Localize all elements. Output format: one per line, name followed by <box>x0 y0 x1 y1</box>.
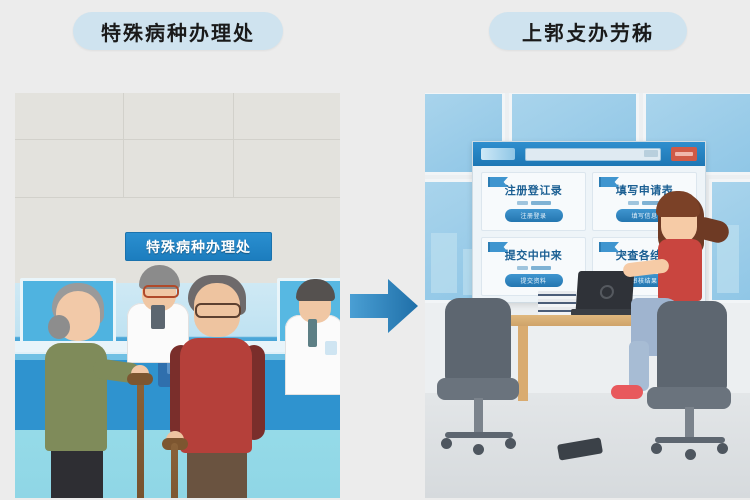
elderly-man-glasses <box>195 303 241 318</box>
portal-action-button[interactable] <box>671 147 697 161</box>
browser-toolbar <box>473 142 705 166</box>
left-panel-title-text: 特殊病种办理处 <box>101 17 255 46</box>
walking-cane-icon <box>137 378 144 498</box>
chair-base <box>445 432 513 438</box>
chair-wheel <box>651 443 662 454</box>
wall-seam <box>123 93 124 197</box>
service-card-button[interactable]: 提交资料 <box>505 274 563 287</box>
wall-seam <box>15 197 340 198</box>
elderly-woman-bun <box>48 315 70 339</box>
chair-pole <box>685 407 694 441</box>
right-panel-title-text: 上郣攴办芀秭 <box>522 17 654 46</box>
service-card-lines <box>517 266 551 270</box>
chair-wheel <box>717 443 728 454</box>
right-scene-office: 注册登讧录 注册登录 填写申请表 填写信息 提交中中来 提交资料 <box>425 93 750 498</box>
walking-cane-icon <box>171 443 178 498</box>
portal-search-input[interactable] <box>525 148 661 161</box>
comparison-infographic: 特殊病种办理处 上郣攴办芀秭 特殊病种办理处 <box>0 0 750 500</box>
wall-seam <box>15 139 340 140</box>
chair-wheel <box>685 449 696 460</box>
city-silhouette <box>431 233 457 293</box>
service-card[interactable]: 提交中中来 提交资料 <box>481 237 586 296</box>
department-sign-text: 特殊病种办理处 <box>146 237 251 257</box>
left-panel-title-pill: 特殊病种办理处 <box>73 12 283 50</box>
service-card-button[interactable]: 注册登录 <box>505 209 563 222</box>
service-card-lines <box>517 201 551 205</box>
chair-pole <box>474 398 483 436</box>
right-arrow-icon <box>348 275 420 337</box>
office-chair-right <box>643 301 735 463</box>
doctor-behind-counter-glasses <box>143 285 179 298</box>
office-chair-left <box>433 298 525 463</box>
walking-cane-handle <box>127 373 153 385</box>
doctor-standing-right-tie <box>308 319 317 347</box>
doctor-behind-counter-collar <box>151 305 165 329</box>
chair-seat <box>437 378 519 400</box>
service-card[interactable]: 注册登讧录 注册登录 <box>481 172 586 231</box>
elderly-man-sweater <box>180 338 252 453</box>
wall-seam <box>233 93 234 197</box>
right-panel-title-pill: 上郣攴办芀秭 <box>489 12 687 50</box>
chair-seat <box>647 387 731 409</box>
chair-back <box>657 301 727 393</box>
left-scene-hospital: 特殊病种办理处 <box>15 93 340 498</box>
service-card-title: 提交中中来 <box>505 247 563 263</box>
chair-base <box>655 437 725 443</box>
laptop-screen <box>576 271 635 311</box>
woman-shoe <box>611 385 643 399</box>
chair-back <box>445 298 511 384</box>
department-sign: 特殊病种办理处 <box>125 232 272 261</box>
doctor-standing-right-badge <box>325 341 337 355</box>
site-logo-icon <box>481 148 515 160</box>
chair-wheel <box>473 444 484 455</box>
chair-wheel <box>441 438 452 449</box>
service-card-title: 注册登讧录 <box>505 182 563 198</box>
chair-wheel <box>505 438 516 449</box>
